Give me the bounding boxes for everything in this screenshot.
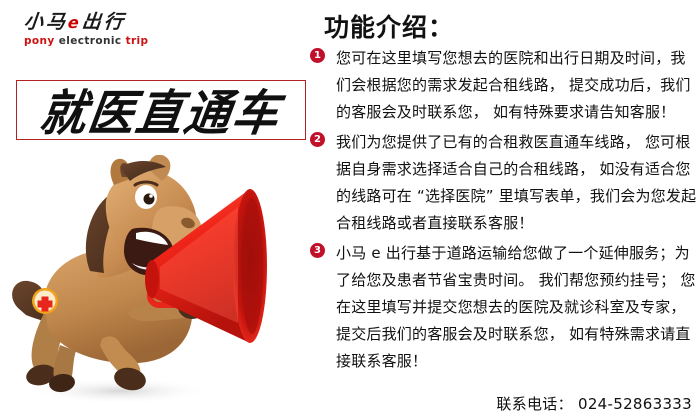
list-item-text-2: 我们为您提供了已有的合租救医直通车线路， 您可根据自身需求选择适合自己的合租线路… xyxy=(336,133,696,232)
contact-label: 联系电话： xyxy=(496,395,573,413)
headline-text: 就医直通车 xyxy=(36,80,286,140)
mascot-eye-pupil xyxy=(144,194,155,205)
list-item-number-2: 2 xyxy=(310,132,325,147)
list-item-number-1: 1 xyxy=(310,48,325,63)
list-item: 1 您可在这里填写您想去的医院和出行日期及时间，我们会根据您的需求发起合租线路，… xyxy=(310,45,700,126)
brand-logo-chinese: 小马e出行 xyxy=(23,12,205,33)
mascot-eye-highlight xyxy=(149,194,153,198)
contact-phone-line: 联系电话： 024-52863333 xyxy=(496,393,692,414)
mascot-horse-illustration xyxy=(2,155,302,410)
page-title: 功能介绍： xyxy=(324,8,454,44)
left-column: 小马e出行 pony electronic trip 就医直通车 xyxy=(0,0,310,420)
megaphone-neck xyxy=(145,260,159,298)
list-item-text-1: 您可在这里填写您想去的医院和出行日期及时间，我们会根据您的需求发起合租线路， 提… xyxy=(336,49,691,121)
right-column: 功能介绍： 1 您可在这里填写您想去的医院和出行日期及时间，我们会根据您的需求发… xyxy=(310,0,700,420)
contact-phone-number[interactable]: 024-52863333 xyxy=(578,395,692,413)
tagline-pony: pony xyxy=(24,35,55,47)
list-item: 2 我们为您提供了已有的合租救医直通车线路， 您可根据自身需求选择适合自己的合租… xyxy=(310,129,700,237)
headline-banner: 就医直通车 xyxy=(16,80,306,140)
megaphone-bell-inner xyxy=(241,198,263,334)
mascot-redcross-badge xyxy=(32,288,58,314)
list-item-number-3: 3 xyxy=(310,243,325,258)
promo-page: 小马e出行 pony electronic trip 就医直通车 xyxy=(0,0,700,420)
features-list: 1 您可在这里填写您想去的医院和出行日期及时间，我们会根据您的需求发起合租线路，… xyxy=(310,45,700,378)
tagline-electronic: electronic xyxy=(59,35,122,47)
brand-logo: 小马e出行 pony electronic trip xyxy=(24,12,204,47)
brand-tagline: pony electronic trip xyxy=(24,35,204,47)
list-item-text-3: 小马 e 出行基于道路运输给您做了一个延伸服务；为了给您及患者节省宝贵时间。 我… xyxy=(336,244,696,370)
list-item: 3 小马 e 出行基于道路运输给您做了一个延伸服务；为了给您及患者节省宝贵时间。… xyxy=(310,240,700,375)
brand-name-part1: 小马 xyxy=(23,11,69,33)
tagline-trip: trip xyxy=(126,35,149,47)
brand-name-part2: 出行 xyxy=(81,11,127,33)
